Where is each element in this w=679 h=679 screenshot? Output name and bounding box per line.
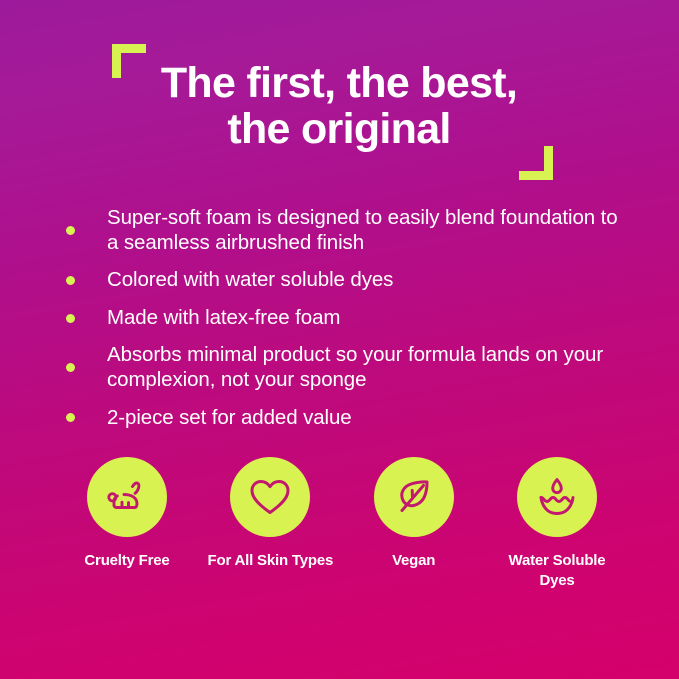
badge-label: Vegan [392,551,435,571]
bullet-dot-icon [66,226,75,235]
badge-label: Water Soluble Dyes [492,551,622,590]
list-item-label: Made with latex-free foam [107,306,626,331]
badge-label: Cruelty Free [84,551,169,571]
certification-badge-row: Cruelty Free For All Skin Types [62,457,622,590]
product-feature-poster: The first, the best, the original Super-… [0,0,679,679]
list-item-label: 2-piece set for added value [107,406,626,431]
list-item: 2-piece set for added value [66,406,626,431]
badge-label: For All Skin Types [208,551,334,571]
badge-water-soluble-dyes: Water Soluble Dyes [492,457,622,590]
page-title: The first, the best, the original [104,60,574,152]
list-item: Colored with water soluble dyes [66,268,626,293]
badge-circle [517,457,597,537]
bullet-dot-icon [66,413,75,422]
badge-cruelty-free: Cruelty Free [62,457,192,571]
feature-bullet-list: Super-soft foam is designed to easily bl… [66,206,626,443]
badge-for-all-skin-types: For All Skin Types [205,457,335,571]
list-item-label: Absorbs minimal product so your formula … [107,343,626,392]
heart-icon [246,473,294,521]
bullet-dot-icon [66,276,75,285]
badge-circle [374,457,454,537]
list-item-label: Super-soft foam is designed to easily bl… [107,206,626,255]
list-item: Made with latex-free foam [66,306,626,331]
bullet-dot-icon [66,363,75,372]
badge-circle [87,457,167,537]
list-item: Absorbs minimal product so your formula … [66,343,626,392]
leaf-icon [390,473,438,521]
water-drop-icon [532,472,582,522]
badge-vegan: Vegan [349,457,479,571]
rabbit-icon [102,472,152,522]
list-item: Super-soft foam is designed to easily bl… [66,206,626,255]
list-item-label: Colored with water soluble dyes [107,268,626,293]
badge-circle [230,457,310,537]
bullet-dot-icon [66,314,75,323]
